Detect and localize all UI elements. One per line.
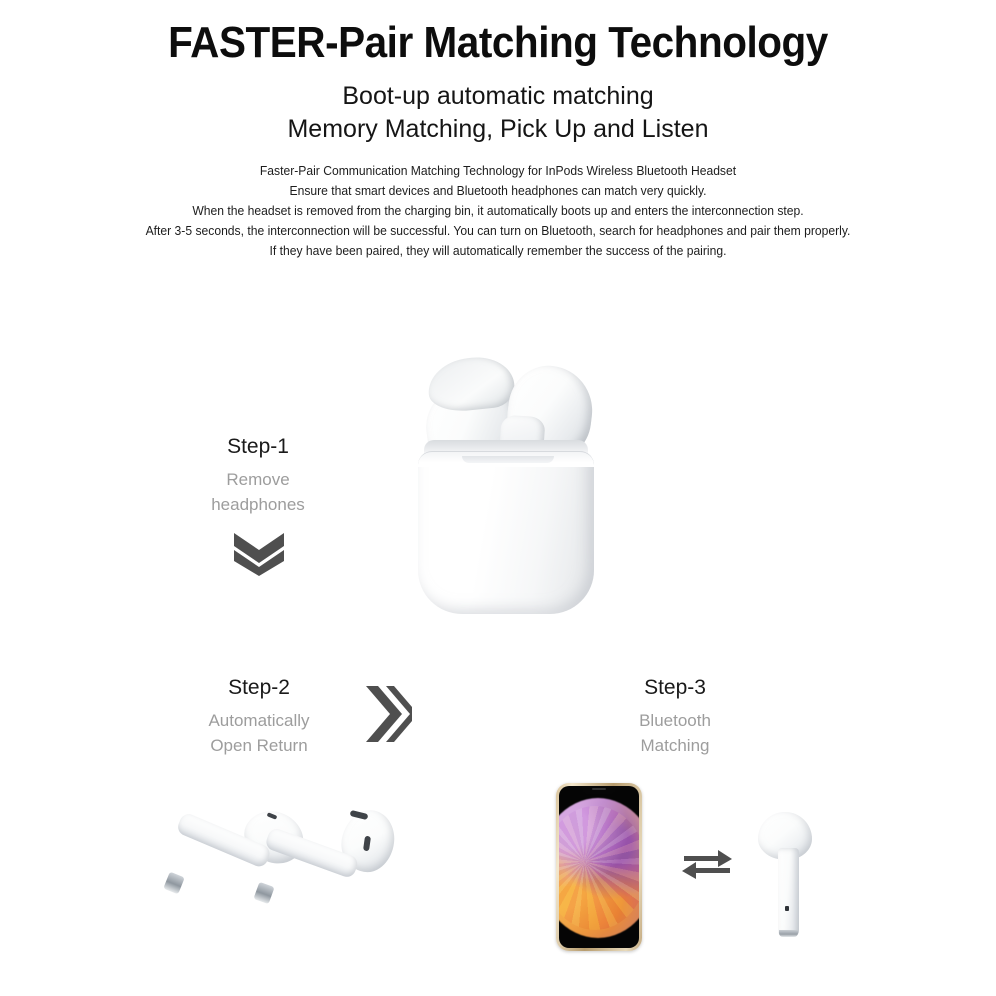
step-3-block: Step-3 Bluetooth Matching xyxy=(575,675,775,758)
step-1-heading: Step-1 xyxy=(158,434,358,460)
step-2-sub-line-2: Open Return xyxy=(159,733,359,758)
step-3-heading: Step-3 xyxy=(575,675,775,701)
step-1-sub-line-2: headphones xyxy=(158,492,358,517)
description-paragraph: Faster-Pair Communication Matching Techn… xyxy=(0,161,996,261)
earbud-left-charge-contact xyxy=(163,872,185,895)
subtitle-line-1: Boot-up automatic matching xyxy=(0,80,996,113)
step-2-block: Step-2 Automatically Open Return xyxy=(159,675,359,758)
double-chevron-down-icon xyxy=(232,531,286,577)
charging-case-illustration xyxy=(404,352,608,614)
step-2-heading: Step-2 xyxy=(159,675,359,701)
double-chevron-right-icon xyxy=(364,684,412,744)
step-3-sub-line-1: Bluetooth xyxy=(575,708,775,733)
step-1-sub-line-1: Remove xyxy=(158,467,358,492)
case-body xyxy=(418,451,594,614)
earbuds-pair-illustration xyxy=(150,808,440,928)
single-earbud-charge-contact xyxy=(779,930,798,937)
phone-earpiece-speaker xyxy=(592,788,606,790)
description-line: When the headset is removed from the cha… xyxy=(15,201,981,221)
step-3-sub-line-2: Matching xyxy=(575,733,775,758)
description-line: Faster-Pair Communication Matching Techn… xyxy=(15,161,981,181)
case-lid-notch xyxy=(462,456,554,463)
earbud-right-charge-contact xyxy=(253,882,274,904)
step-2-sub-line-1: Automatically xyxy=(159,708,359,733)
description-line: Ensure that smart devices and Bluetooth … xyxy=(15,181,981,201)
single-earbud-mic-dot xyxy=(785,906,789,911)
single-earbud-illustration xyxy=(752,812,822,940)
phone-wallpaper-swirl xyxy=(559,806,639,930)
description-line: If they have been paired, they will auto… xyxy=(15,241,981,261)
smartphone-illustration xyxy=(556,783,642,951)
subtitle-line-2: Memory Matching, Pick Up and Listen xyxy=(0,113,996,146)
product-infographic-page: FASTER-Pair Matching Technology Boot-up … xyxy=(0,0,996,996)
step-1-block: Step-1 Remove headphones xyxy=(158,434,358,517)
page-title: FASTER-Pair Matching Technology xyxy=(40,16,956,70)
phone-screen xyxy=(559,786,639,948)
single-earbud-stem xyxy=(778,848,799,936)
bidirectional-pairing-arrows-icon xyxy=(680,848,734,880)
description-line: After 3-5 seconds, the interconnection w… xyxy=(15,221,981,241)
